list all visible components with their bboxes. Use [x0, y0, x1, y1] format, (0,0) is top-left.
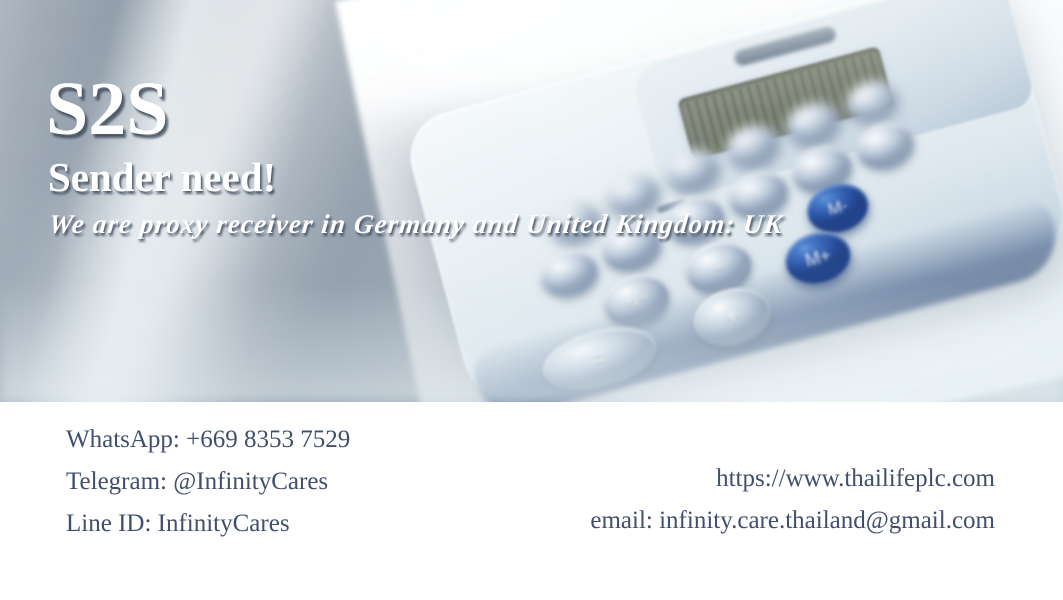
contact-band: WhatsApp: +669 8353 7529 Telegram: @Infi…	[0, 402, 1063, 600]
contact-left-column: WhatsApp: +669 8353 7529 Telegram: @Infi…	[66, 419, 586, 545]
calculator-key-plusminus: +/−	[598, 268, 675, 333]
contact-line-id[interactable]: Line ID: InfinityCares	[66, 503, 586, 545]
headline-tagline: We are proxy receiver in Germany and Uni…	[47, 207, 785, 241]
headline-block: S2S Sender need! We are proxy receiver i…	[46, 70, 783, 241]
contact-website[interactable]: https://www.thailifeplc.com	[590, 458, 995, 500]
contact-right-column: https://www.thailifeplc.com email: infin…	[590, 458, 995, 542]
calculator-key	[782, 97, 845, 151]
calculator-photo: × − +/− M- M+ + = S2S Sender need! We ar…	[0, 0, 1063, 402]
contact-whatsapp[interactable]: WhatsApp: +669 8353 7529	[66, 419, 586, 461]
calculator-key	[536, 245, 603, 303]
calculator-key	[852, 117, 919, 175]
contact-email[interactable]: email: infinity.care.thailand@gmail.com	[590, 500, 995, 542]
business-card-banner: × − +/− M- M+ + = S2S Sender need! We ar…	[0, 0, 1063, 600]
contact-telegram[interactable]: Telegram: @InfinityCares	[66, 461, 586, 503]
calculator-key	[842, 75, 903, 127]
page-title: S2S	[46, 70, 783, 148]
headline-subtitle: Sender need!	[48, 154, 783, 200]
calculator-key-memory-plus: M+	[780, 225, 857, 290]
